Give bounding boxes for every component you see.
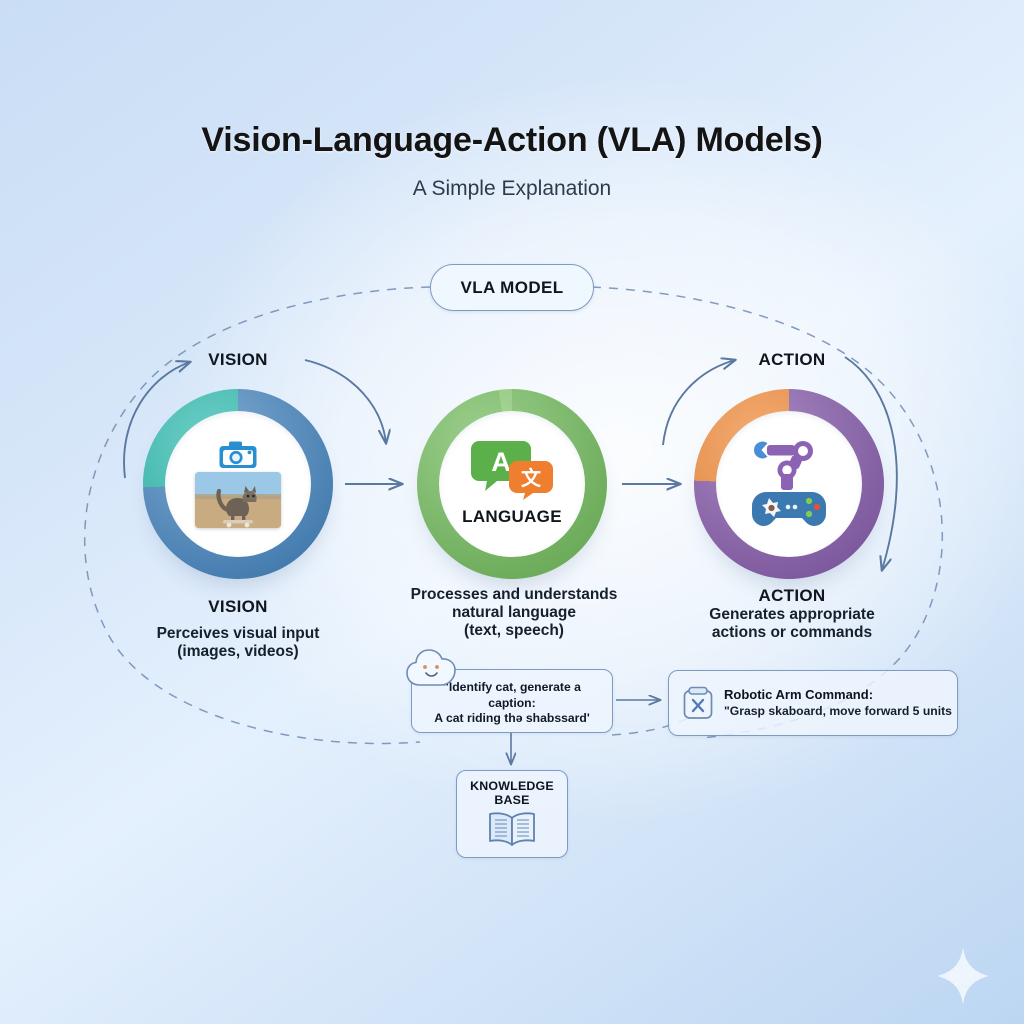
smiling-cloud-icon: [404, 645, 460, 689]
gamepad-icon: [752, 488, 826, 528]
terminal-x-icon: [681, 685, 715, 721]
vision-node-face: [165, 411, 311, 557]
command-box-body: "Grasp skaboard, move forward 5 units: [724, 704, 952, 720]
language-caption-line2: natural language: [398, 604, 630, 622]
language-inner-label: LANGUAGE: [462, 507, 562, 527]
translate-icon: A 文: [471, 437, 553, 501]
action-node-face: [716, 411, 862, 557]
vision-caption: VISION Perceives visual input (images, v…: [118, 597, 358, 661]
language-caption-line1: Processes and understands: [398, 586, 630, 604]
command-box-title: Robotic Arm Command:: [724, 687, 952, 704]
vision-node[interactable]: [143, 389, 333, 579]
language-node[interactable]: A 文 LANGUAGE: [417, 389, 607, 579]
vla-model-badge[interactable]: VLA MODEL: [430, 264, 594, 311]
open-book-icon: [485, 810, 539, 848]
camera-icon: [218, 440, 258, 470]
knowledge-base-label: KNOWLEDGE BASE: [470, 780, 554, 808]
language-caption-line3: (text, speech): [398, 622, 630, 640]
translate-icon-primary-glyph: A: [491, 447, 511, 477]
language-node-face: A 文 LANGUAGE: [439, 411, 585, 557]
prompt-box-line2: A cat riding thə shabssard': [418, 711, 606, 727]
translate-icon-secondary-glyph: 文: [521, 466, 542, 490]
command-box-text: Robotic Arm Command: "Grasp skaboard, mo…: [724, 687, 952, 720]
command-box[interactable]: Robotic Arm Command: "Grasp skaboard, mo…: [668, 670, 958, 736]
action-node[interactable]: [694, 389, 884, 579]
vision-caption-line1: Perceives visual input: [118, 625, 358, 643]
knowledge-base-box[interactable]: KNOWLEDGE BASE: [456, 770, 568, 858]
action-caption-line1: Generates appropriate: [672, 606, 912, 624]
action-top-label: ACTION: [692, 350, 892, 370]
sparkle-icon: [935, 945, 991, 1007]
robot-arm-icon: [750, 440, 828, 492]
diagram-canvas: Vision-Language-Action (VLA) Models) A S…: [0, 0, 1024, 1024]
action-caption-line2: actions or commands: [672, 624, 912, 642]
action-caption-heading: ACTION: [672, 586, 912, 606]
cat-skateboard-photo: [195, 472, 281, 528]
knowledge-base-line2: BASE: [470, 794, 554, 808]
vla-model-badge-label: VLA MODEL: [460, 278, 563, 298]
knowledge-base-line1: KNOWLEDGE: [470, 780, 554, 794]
language-caption: Processes and understands natural langua…: [398, 586, 630, 640]
vision-caption-heading: VISION: [118, 597, 358, 617]
vision-caption-line2: (images, videos): [118, 643, 358, 661]
action-caption: ACTION Generates appropriate actions or …: [672, 586, 912, 642]
vision-top-label: VISION: [138, 350, 338, 370]
